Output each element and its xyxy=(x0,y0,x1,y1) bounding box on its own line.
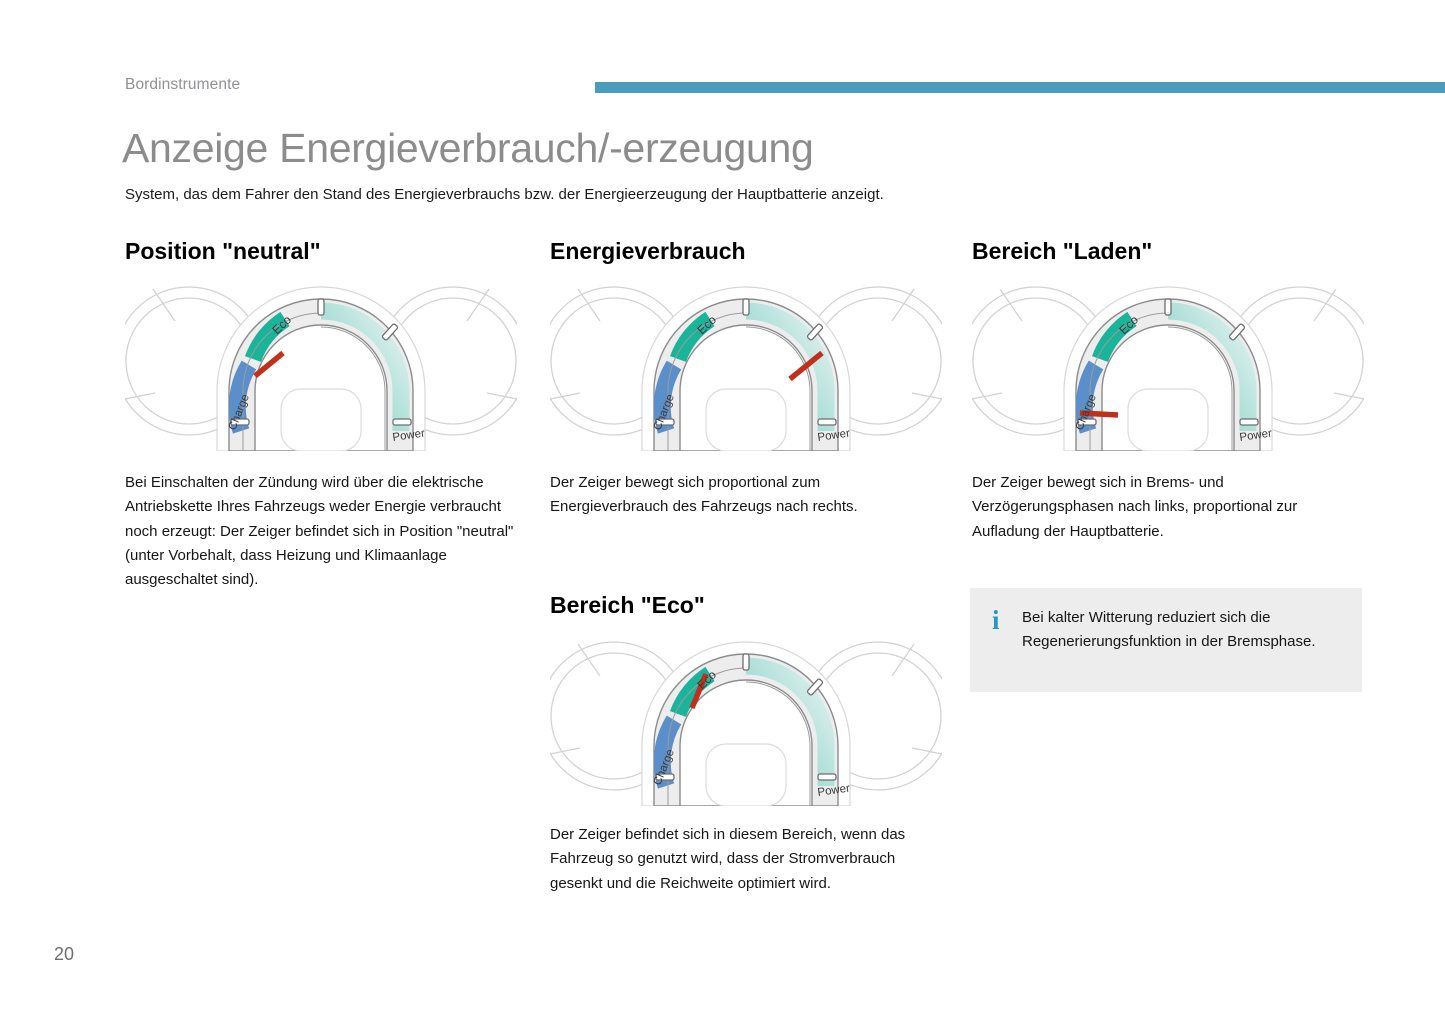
section-body-energieverbrauch: Der Zeiger bewegt sich proportional zum … xyxy=(550,471,942,520)
manual-page: Bordinstrumente Anzeige Energieverbrauch… xyxy=(0,0,1445,1026)
gauge-figure-eco: Eco Charge Power xyxy=(550,636,942,806)
header-rule xyxy=(595,82,1445,93)
section-body-neutral: Bei Einschalten der Zündung wird über di… xyxy=(125,471,517,592)
gauge-figure-energieverbrauch: Eco Charge Power xyxy=(550,281,942,451)
section-heading-neutral: Position "neutral" xyxy=(125,238,321,265)
gauge-figure-laden: Eco Charge Power xyxy=(972,281,1364,451)
section-heading-laden: Bereich "Laden" xyxy=(972,238,1152,265)
section-body-laden: Der Zeiger bewegt sich in Brems- und Ver… xyxy=(972,471,1364,544)
section-body-eco: Der Zeiger befindet sich in diesem Berei… xyxy=(550,823,942,896)
section-heading-eco: Bereich "Eco" xyxy=(550,592,705,619)
page-title: Anzeige Energieverbrauch/-erzeugung xyxy=(122,125,814,172)
info-icon: i xyxy=(992,607,1000,634)
info-note-text: Bei kalter Witterung reduziert sich die … xyxy=(1022,606,1342,655)
page-subtitle: System, das dem Fahrer den Stand des Ene… xyxy=(125,186,884,203)
gauge-figure-neutral: Eco Charge Power xyxy=(125,281,517,451)
section-heading-energieverbrauch: Energieverbrauch xyxy=(550,238,746,265)
running-head: Bordinstrumente xyxy=(125,76,240,94)
info-note-box: i Bei kalter Witterung reduziert sich di… xyxy=(970,588,1362,692)
page-number: 20 xyxy=(54,944,74,965)
